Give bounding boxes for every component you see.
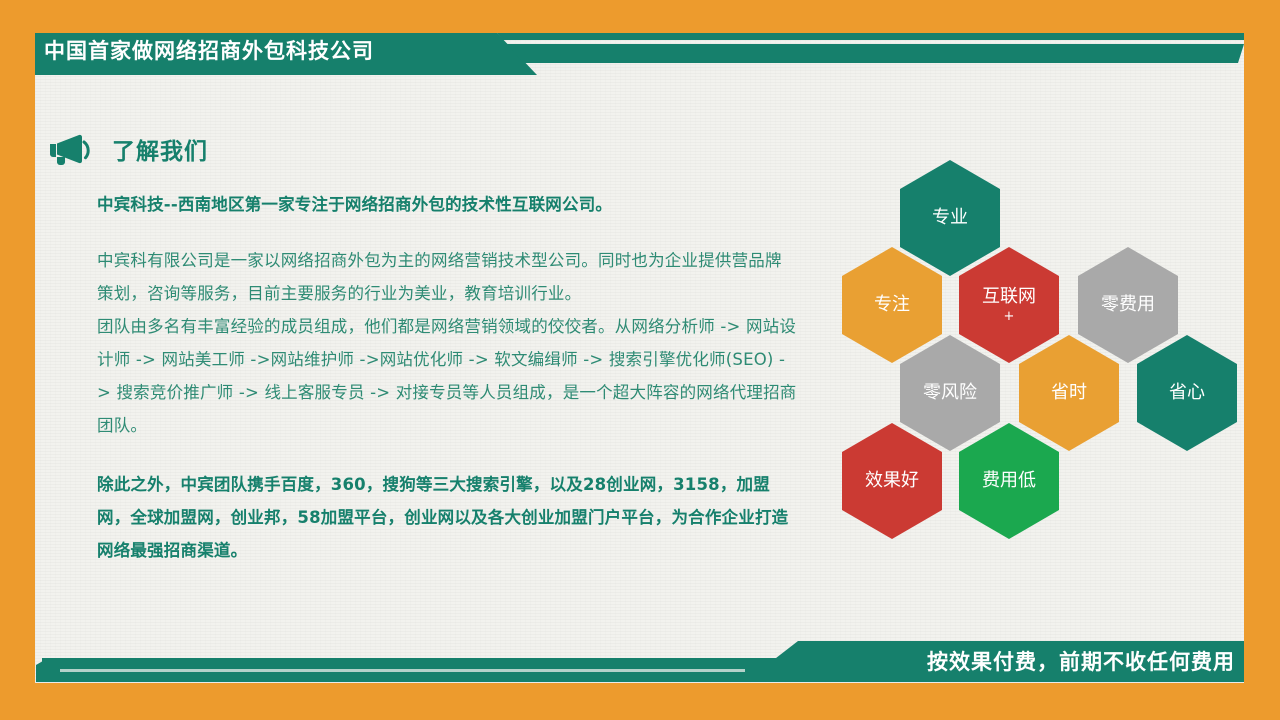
body-paragraph-1: 中宾科有限公司是一家以网络招商外包为主的网络营销技术型公司。同时也为企业提供营品… [97,244,797,310]
section-title: 了解我们 [112,132,208,166]
hexagon-label: 费用低 [982,470,1036,492]
hexagon-label: 零费用 [1101,294,1155,316]
hex-shengxin[interactable]: 省心 [1137,335,1237,451]
megaphone-icon [48,133,90,165]
hexagon-label: 专注 [874,294,910,316]
hexagon-cluster: 专业专注互联网+零费用零风险省时省心效果好费用低 [840,160,1240,530]
hex-hulianwang[interactable]: 互联网+ [959,247,1059,363]
section-heading: 了解我们 [48,132,208,166]
body-paragraph-2: 团队由多名有丰富经验的成员组成，他们都是网络营销领域的佼佼者。从网络分析师 ->… [97,310,797,442]
hex-lingfeiyong[interactable]: 零费用 [1078,247,1178,363]
hex-xiaoguohao[interactable]: 效果好 [842,423,942,539]
body-closing: 除此之外，中宾团队携手百度，360，搜狗等三大搜索引擎，以及28创业网，3158… [97,468,797,567]
body-lead: 中宾科技--西南地区第一家专注于网络招商外包的技术性互联网公司。 [97,192,797,218]
page-title: 中国首家做网络招商外包科技公司 [44,38,374,64]
hex-zhuanzhu[interactable]: 专注 [842,247,942,363]
hexagon-sublabel: + [1004,309,1015,325]
hex-lingfengxian[interactable]: 零风险 [900,335,1000,451]
hexagon-label: 效果好 [865,470,919,492]
hexagon-label: 专业 [932,207,968,229]
footer-tagline: 按效果付费，前期不收任何费用 [927,646,1235,676]
hexagon-label: 零风险 [923,382,977,404]
hex-zhuanye[interactable]: 专业 [900,160,1000,276]
hexagon-label: 省时 [1051,382,1087,404]
hexagon-label: 省心 [1169,382,1205,404]
hexagon-label: 互联网 [982,286,1036,308]
body-column: 中宾科技--西南地区第一家专注于网络招商外包的技术性互联网公司。 中宾科有限公司… [97,192,797,567]
hex-shengshi[interactable]: 省时 [1019,335,1119,451]
hex-feiyongdi[interactable]: 费用低 [959,423,1059,539]
slide-root: 中国首家做网络招商外包科技公司 了解我们 中宾科技--西南地区第一家专注于网络招… [0,0,1280,720]
